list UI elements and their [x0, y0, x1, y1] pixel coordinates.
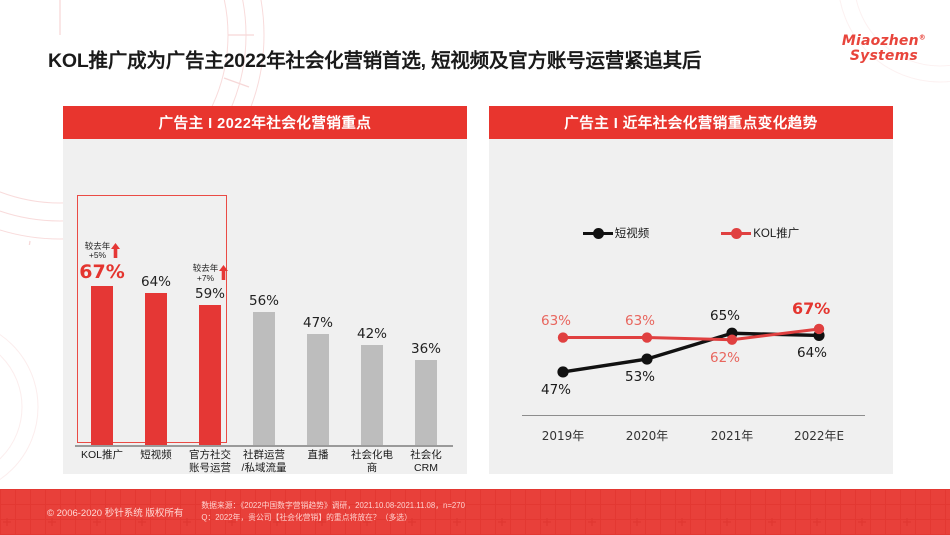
delta-wrap: 较去年+5%	[76, 242, 128, 264]
category-label-line: 直播	[290, 449, 346, 462]
line-data-point[interactable]	[814, 324, 824, 334]
registered-mark-icon: ®	[919, 33, 926, 41]
category-label-line: 商	[344, 462, 400, 475]
bar-category-label: 社会化CRM	[398, 449, 454, 476]
bar-rect[interactable]	[91, 286, 113, 445]
bar-item[interactable]: 56%	[238, 293, 290, 445]
page-title: KOL推广成为广告主2022年社会化营销首选, 短视频及官方账号运营紧追其后	[48, 44, 701, 73]
footer-bar: © 2006-2020 秒针系统 版权所有 数据来源：《2022中国数字营销趋势…	[0, 489, 950, 535]
bar-chart-body: 较去年+5%67%64%较去年+7%59%56%47%42%36% KOL推广短…	[63, 139, 467, 474]
bar-value-label: 59%	[184, 286, 236, 302]
line-x-label: 2022年E	[779, 427, 859, 444]
bar-item[interactable]: 42%	[346, 326, 398, 445]
bar-value-label: 56%	[238, 293, 290, 309]
up-arrow-icon	[219, 265, 228, 280]
line-point-label: 47%	[541, 382, 571, 398]
source-line-1: 数据来源：《2022中国数字营销趋势》调研，2021.10.08-2021.11…	[201, 500, 465, 512]
line-data-point[interactable]	[642, 332, 652, 342]
line-data-point[interactable]	[641, 353, 652, 364]
category-label-line: KOL推广	[74, 449, 130, 462]
logo-line1: Miaozhen	[842, 33, 919, 49]
bar-value-label: 47%	[292, 315, 344, 331]
source-line-2: Q：2022年，贵公司【社会化营销】的重点将放在？（多选）	[201, 512, 465, 524]
category-label-line: /私域流量	[236, 462, 292, 475]
bar-rect[interactable]	[307, 334, 329, 445]
line-point-label: 63%	[625, 313, 655, 329]
bar-category-label: KOL推广	[74, 449, 130, 462]
bar-rect[interactable]	[199, 305, 221, 445]
bar-rect[interactable]	[145, 293, 167, 445]
category-label-line: 社会化	[398, 449, 454, 462]
bar-category-label: 社会化电商	[344, 449, 400, 476]
line-chart-body: 短视频 KOL推广 47%53%65%64%63%63%62%67% 2019年…	[489, 139, 893, 474]
category-label-line: CRM	[398, 462, 454, 475]
category-label-line: 官方社交	[182, 449, 238, 462]
bar-item[interactable]: 36%	[400, 341, 452, 445]
bar-value-label: 67%	[76, 263, 128, 283]
category-label-line: 社会化电	[344, 449, 400, 462]
line-chart-panel-header: 广告主 I 近年社会化营销重点变化趋势	[489, 106, 893, 139]
line-point-label: 53%	[625, 369, 655, 385]
bar-chart-plot: 较去年+5%67%64%较去年+7%59%56%47%42%36% KOL推广短…	[63, 139, 467, 474]
logo-line2: Systems	[842, 49, 926, 64]
bar-rect[interactable]	[253, 312, 275, 445]
bar-item[interactable]: 较去年+7%59%	[184, 264, 236, 445]
line-x-label: 2019年	[523, 427, 603, 444]
line-chart-plot: 短视频 KOL推广 47%53%65%64%63%63%62%67% 2019年…	[489, 139, 893, 474]
bar-rect[interactable]	[415, 360, 437, 445]
bar-chart-panel: 广告主 I 2022年社会化营销重点 较去年+5%67%64%较去年+7%59%…	[63, 106, 467, 474]
bar-item[interactable]: 47%	[292, 315, 344, 445]
category-label-line: 短视频	[128, 449, 184, 462]
copyright-text: © 2006-2020 秒针系统 版权所有	[47, 505, 183, 519]
line-x-label: 2021年	[692, 427, 772, 444]
bar-item[interactable]: 64%	[130, 274, 182, 445]
up-arrow-icon	[111, 243, 120, 258]
delta-line-2: +7%	[193, 274, 219, 284]
bar-category-label: 社群运营/私域流量	[236, 449, 292, 476]
bar-category-label: 短视频	[128, 449, 184, 462]
delta-wrap: 较去年+7%	[184, 264, 236, 286]
bar-category-label: 官方社交账号运营	[182, 449, 238, 476]
brand-logo: Miaozhen® Systems	[842, 34, 926, 63]
bar-value-label: 64%	[130, 274, 182, 290]
line-series-svg	[489, 139, 893, 474]
source-text: 数据来源：《2022中国数字营销趋势》调研，2021.10.08-2021.11…	[201, 500, 465, 524]
line-data-point[interactable]	[558, 332, 568, 342]
line-data-point[interactable]	[557, 366, 568, 377]
line-path-kol[interactable]	[563, 329, 819, 340]
delta-line-2: +5%	[85, 251, 111, 261]
category-label-line: 账号运营	[182, 462, 238, 475]
bar-category-label: 直播	[290, 449, 346, 462]
bar-chart-panel-header: 广告主 I 2022年社会化营销重点	[63, 106, 467, 139]
footer-content: © 2006-2020 秒针系统 版权所有 数据来源：《2022中国数字营销趋势…	[0, 489, 950, 535]
line-point-label: 65%	[710, 308, 740, 324]
line-point-label: 67%	[792, 299, 830, 318]
bar-delta-annotation: 较去年+7%	[193, 264, 228, 284]
bar-series: 较去年+5%67%64%较去年+7%59%56%47%42%36%	[75, 139, 453, 474]
bar-delta-annotation: 较去年+5%	[85, 242, 120, 262]
line-point-label: 62%	[710, 350, 740, 366]
bar-value-label: 42%	[346, 326, 398, 342]
category-label-line: 社群运营	[236, 449, 292, 462]
slide: KOL推广成为广告主2022年社会化营销首选, 短视频及官方账号运营紧追其后 M…	[0, 0, 950, 535]
line-chart-axis	[522, 415, 865, 416]
bar-item[interactable]: 较去年+5%67%	[76, 242, 128, 445]
line-point-label: 64%	[797, 345, 827, 361]
bar-value-label: 36%	[400, 341, 452, 357]
line-data-point[interactable]	[727, 335, 737, 345]
line-x-label: 2020年	[607, 427, 687, 444]
bar-rect[interactable]	[361, 345, 383, 445]
line-point-label: 63%	[541, 313, 571, 329]
line-chart-panel: 广告主 I 近年社会化营销重点变化趋势 短视频 KOL推广	[489, 106, 893, 474]
